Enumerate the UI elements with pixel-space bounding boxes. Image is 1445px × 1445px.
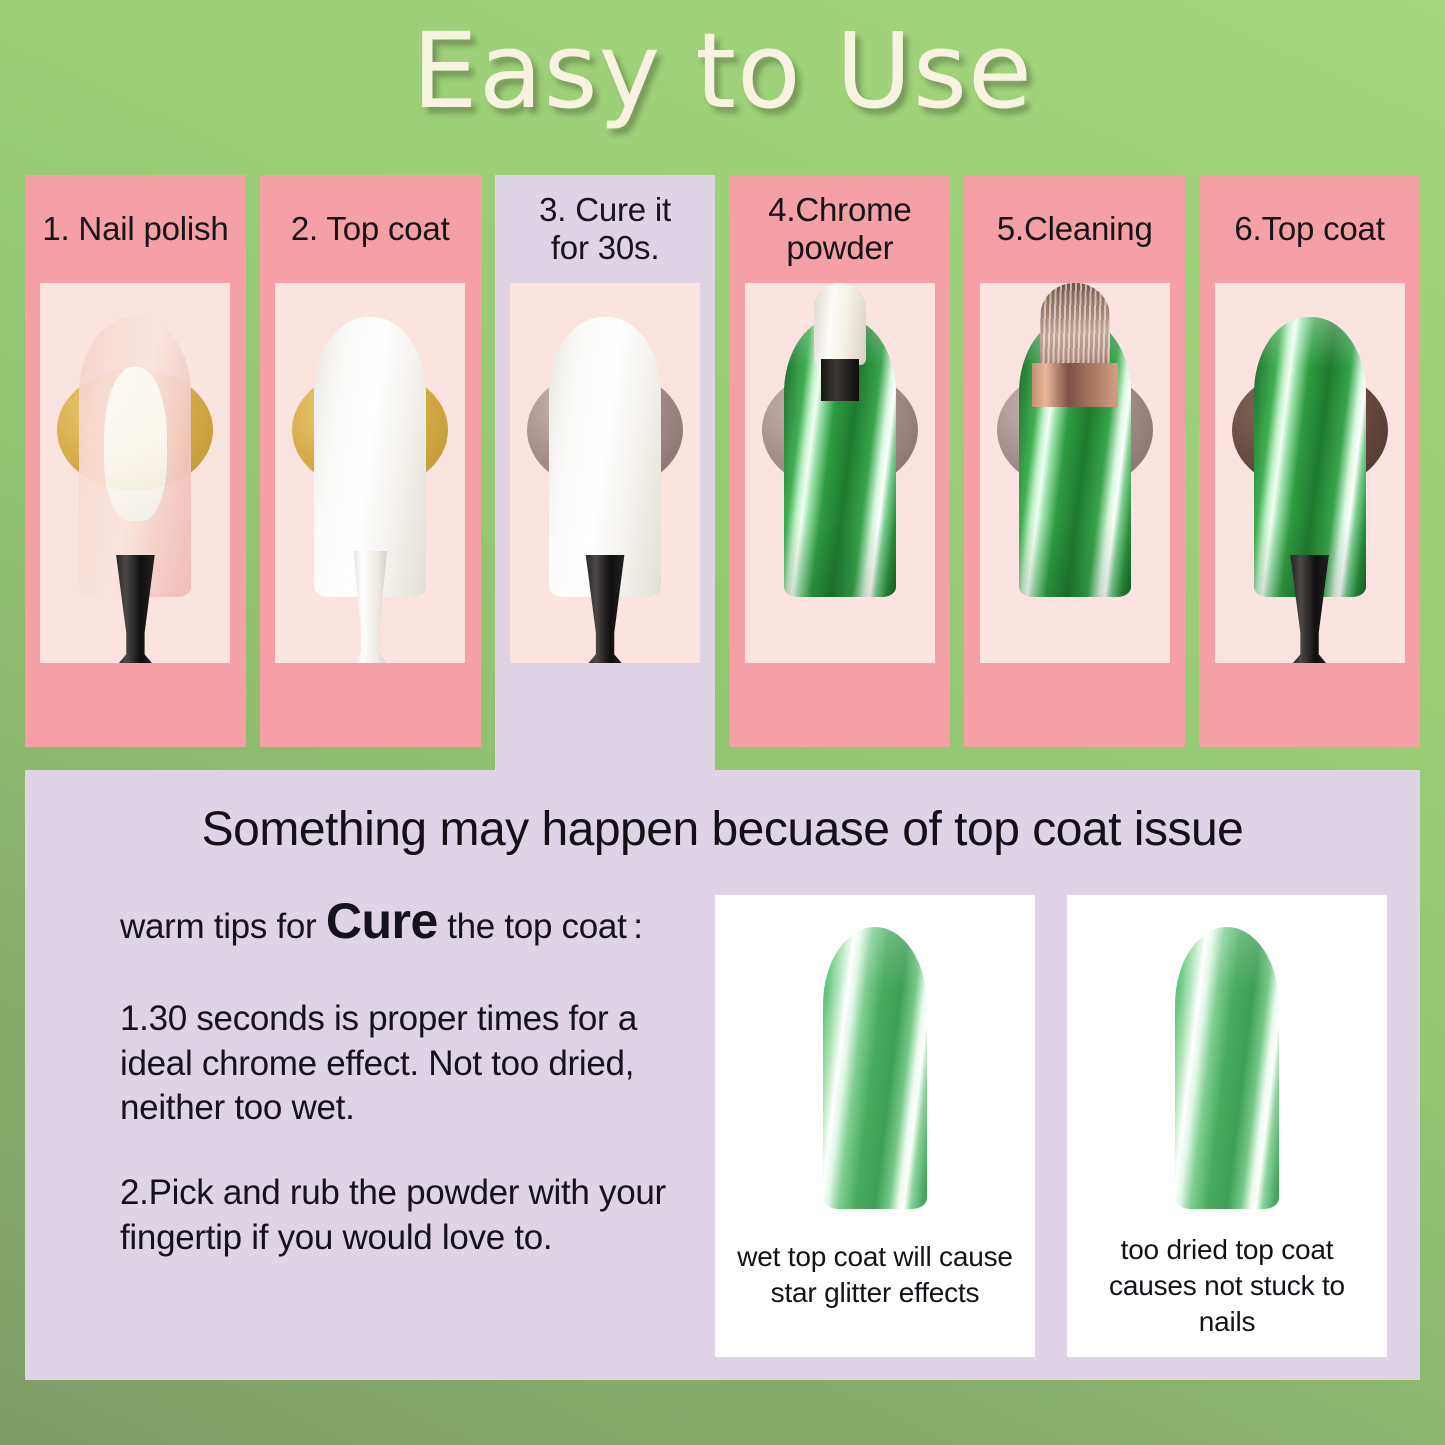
step-card-1[interactable]: 1. Nail polish — [25, 175, 246, 747]
step-label-2: 2. Top coat — [260, 175, 481, 283]
page-title: Easy to Use — [0, 14, 1445, 128]
top-coat-brush-icon — [349, 551, 391, 663]
result-photo-wet — [727, 913, 1023, 1233]
warm-tips-suffix: the top coat : — [438, 907, 643, 946]
result-caption-dried: too dried top coat causes not stuck to n… — [1079, 1232, 1375, 1341]
step-label-5: 5.Cleaning — [964, 175, 1185, 283]
nail-polish-brush-icon — [112, 555, 158, 663]
step-card-6[interactable]: 6.Top coat — [1199, 175, 1420, 747]
step-photo-6 — [1215, 283, 1405, 663]
step-label-1: 1. Nail polish — [25, 175, 246, 283]
step-photo-3 — [510, 283, 700, 663]
cleaning-brush-icon — [1032, 283, 1118, 407]
panel-title: Something may happen becuase of top coat… — [25, 804, 1420, 857]
cure-emphasis: Cure — [326, 893, 438, 949]
panel-body: warm tips for Cure the top coat : 1.30 s… — [25, 889, 1420, 1363]
tip-2: 2.Pick and rub the powder with your fing… — [120, 1171, 715, 1261]
warm-tips-line: warm tips for Cure the top coat : — [120, 889, 715, 953]
result-cards: wet top coat will cause star glitter eff… — [715, 889, 1392, 1363]
result-caption-wet: wet top coat will cause star glitter eff… — [727, 1239, 1023, 1312]
step-card-5[interactable]: 5.Cleaning — [964, 175, 1185, 747]
step-photo-2 — [275, 283, 465, 663]
steps-strip: 1. Nail polish 2. Top coat 3. Cure itfor… — [25, 175, 1420, 747]
step-label-4: 4.Chromepowder — [729, 175, 950, 283]
step-card-2[interactable]: 2. Top coat — [260, 175, 481, 747]
green-chrome-nail-icon — [1175, 927, 1279, 1209]
step-label-6: 6.Top coat — [1199, 175, 1420, 283]
top-coat-brush-icon — [1287, 555, 1333, 663]
step-card-4[interactable]: 4.Chromepowder — [729, 175, 950, 747]
tips-text-block: warm tips for Cure the top coat : 1.30 s… — [65, 889, 715, 1363]
result-photo-dried — [1079, 913, 1375, 1226]
result-card-dried[interactable]: too dried top coat causes not stuck to n… — [1067, 895, 1387, 1357]
result-card-wet[interactable]: wet top coat will cause star glitter eff… — [715, 895, 1035, 1357]
tips-panel: Something may happen becuase of top coat… — [25, 770, 1420, 1380]
poster-root: Easy to Use 1. Nail polish 2. Top coat 3… — [0, 0, 1445, 1445]
green-chrome-nail-icon — [823, 927, 927, 1209]
step-label-3: 3. Cure itfor 30s. — [495, 175, 716, 283]
tip-1: 1.30 seconds is proper times for a ideal… — [120, 997, 715, 1131]
step-photo-5 — [980, 283, 1170, 663]
step-card-3[interactable]: 3. Cure itfor 30s. — [495, 175, 716, 790]
chrome-powder-sponge-icon — [814, 283, 866, 401]
step-photo-1 — [40, 283, 230, 663]
warm-tips-prefix: warm tips for — [120, 907, 326, 946]
cure-brush-icon — [582, 555, 628, 663]
step-photo-4 — [745, 283, 935, 663]
